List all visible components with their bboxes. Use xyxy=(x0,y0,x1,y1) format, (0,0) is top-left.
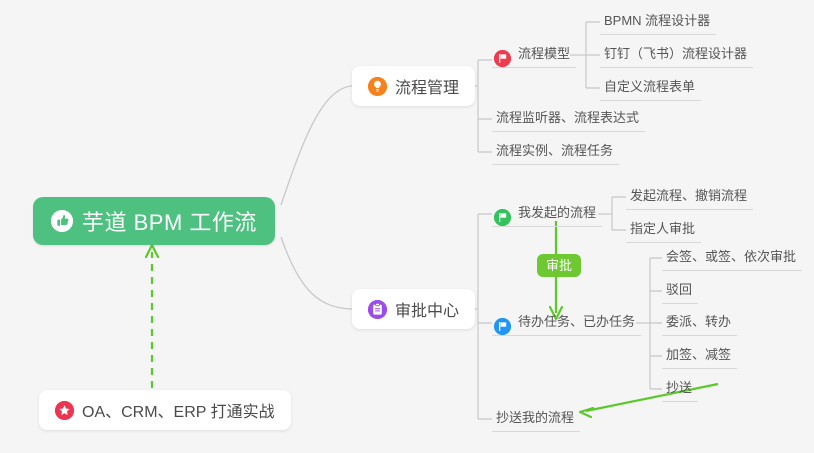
leaf-reject[interactable]: 驳回 xyxy=(662,278,698,304)
leaf-label: 会签、或签、依次审批 xyxy=(666,246,796,270)
branch-node-process-management[interactable]: 流程管理 xyxy=(352,66,475,106)
root-node[interactable]: 芋道 BPM 工作流 xyxy=(33,197,275,245)
bottom-note-node[interactable]: OA、CRM、ERP 打通实战 xyxy=(39,390,291,430)
flag-blue-icon xyxy=(494,318,511,335)
thumbs-up-icon xyxy=(51,210,73,232)
branch-label-approval-center: 审批中心 xyxy=(395,297,459,321)
leaf-label: 流程监听器、流程表达式 xyxy=(496,107,639,131)
node-label-process-model: 流程模型 xyxy=(518,43,570,67)
leaf-dingtalk-feishu-designer[interactable]: 钉钉（飞书）流程设计器 xyxy=(600,42,753,68)
leaf-assignee-approval[interactable]: 指定人审批 xyxy=(626,217,701,243)
star-icon xyxy=(55,401,74,420)
leaf-bpmn-designer[interactable]: BPMN 流程设计器 xyxy=(600,9,716,35)
leaf-label: 抄送 xyxy=(666,377,692,401)
link-ac-branches xyxy=(478,214,492,419)
link-pm-branches xyxy=(478,60,492,152)
link-todo-branches xyxy=(650,258,662,389)
leaf-cc-to-me[interactable]: 抄送我的流程 xyxy=(492,406,580,432)
leaf-cc[interactable]: 抄送 xyxy=(662,376,698,402)
root-label: 芋道 BPM 工作流 xyxy=(82,205,257,237)
leaf-label: 加签、减签 xyxy=(666,344,731,368)
leaf-process-instance[interactable]: 流程实例、流程任务 xyxy=(492,139,619,165)
leaf-label: 驳回 xyxy=(666,279,692,303)
link-model-branches xyxy=(586,22,600,88)
approval-badge: 审批 xyxy=(537,254,581,277)
leaf-label: 流程实例、流程任务 xyxy=(496,140,613,164)
node-label-my-initiated: 我发起的流程 xyxy=(518,202,596,226)
node-todo-done-tasks[interactable]: 待办任务、已办任务 xyxy=(492,310,641,336)
leaf-add-remove-sign[interactable]: 加签、减签 xyxy=(662,343,737,369)
node-process-model[interactable]: 流程模型 xyxy=(492,42,576,68)
node-my-initiated[interactable]: 我发起的流程 xyxy=(492,201,602,227)
bottom-note-label: OA、CRM、ERP 打通实战 xyxy=(82,398,275,422)
leaf-label: BPMN 流程设计器 xyxy=(604,10,710,34)
link-root-to-approval-center xyxy=(281,237,352,309)
leaf-label: 发起流程、撤销流程 xyxy=(630,185,747,209)
link-root-to-process-management xyxy=(281,86,352,205)
lightbulb-icon xyxy=(368,77,387,96)
clipboard-icon xyxy=(368,300,387,319)
leaf-custom-form[interactable]: 自定义流程表单 xyxy=(600,75,701,101)
leaf-start-cancel-process[interactable]: 发起流程、撤销流程 xyxy=(626,184,753,210)
node-label-todo-done-tasks: 待办任务、已办任务 xyxy=(518,311,635,335)
leaf-label: 指定人审批 xyxy=(630,218,695,242)
leaf-label: 抄送我的流程 xyxy=(496,407,574,431)
flag-red-icon xyxy=(494,50,511,67)
leaf-label: 自定义流程表单 xyxy=(604,76,695,100)
link-mine-branches xyxy=(612,197,626,230)
dashed-arrow-to-root xyxy=(146,245,158,388)
mindmap-canvas: 芋道 BPM 工作流 OA、CRM、ERP 打通实战 流程管理 xyxy=(0,0,814,453)
leaf-delegate-transfer[interactable]: 委派、转办 xyxy=(662,310,737,336)
leaf-process-listener[interactable]: 流程监听器、流程表达式 xyxy=(492,106,645,132)
branch-node-approval-center[interactable]: 审批中心 xyxy=(352,289,475,329)
leaf-label: 委派、转办 xyxy=(666,311,731,335)
flag-green-icon xyxy=(494,209,511,226)
branch-label-process-management: 流程管理 xyxy=(395,74,459,98)
leaf-label: 钉钉（飞书）流程设计器 xyxy=(604,43,747,67)
leaf-countersign[interactable]: 会签、或签、依次审批 xyxy=(662,245,802,271)
